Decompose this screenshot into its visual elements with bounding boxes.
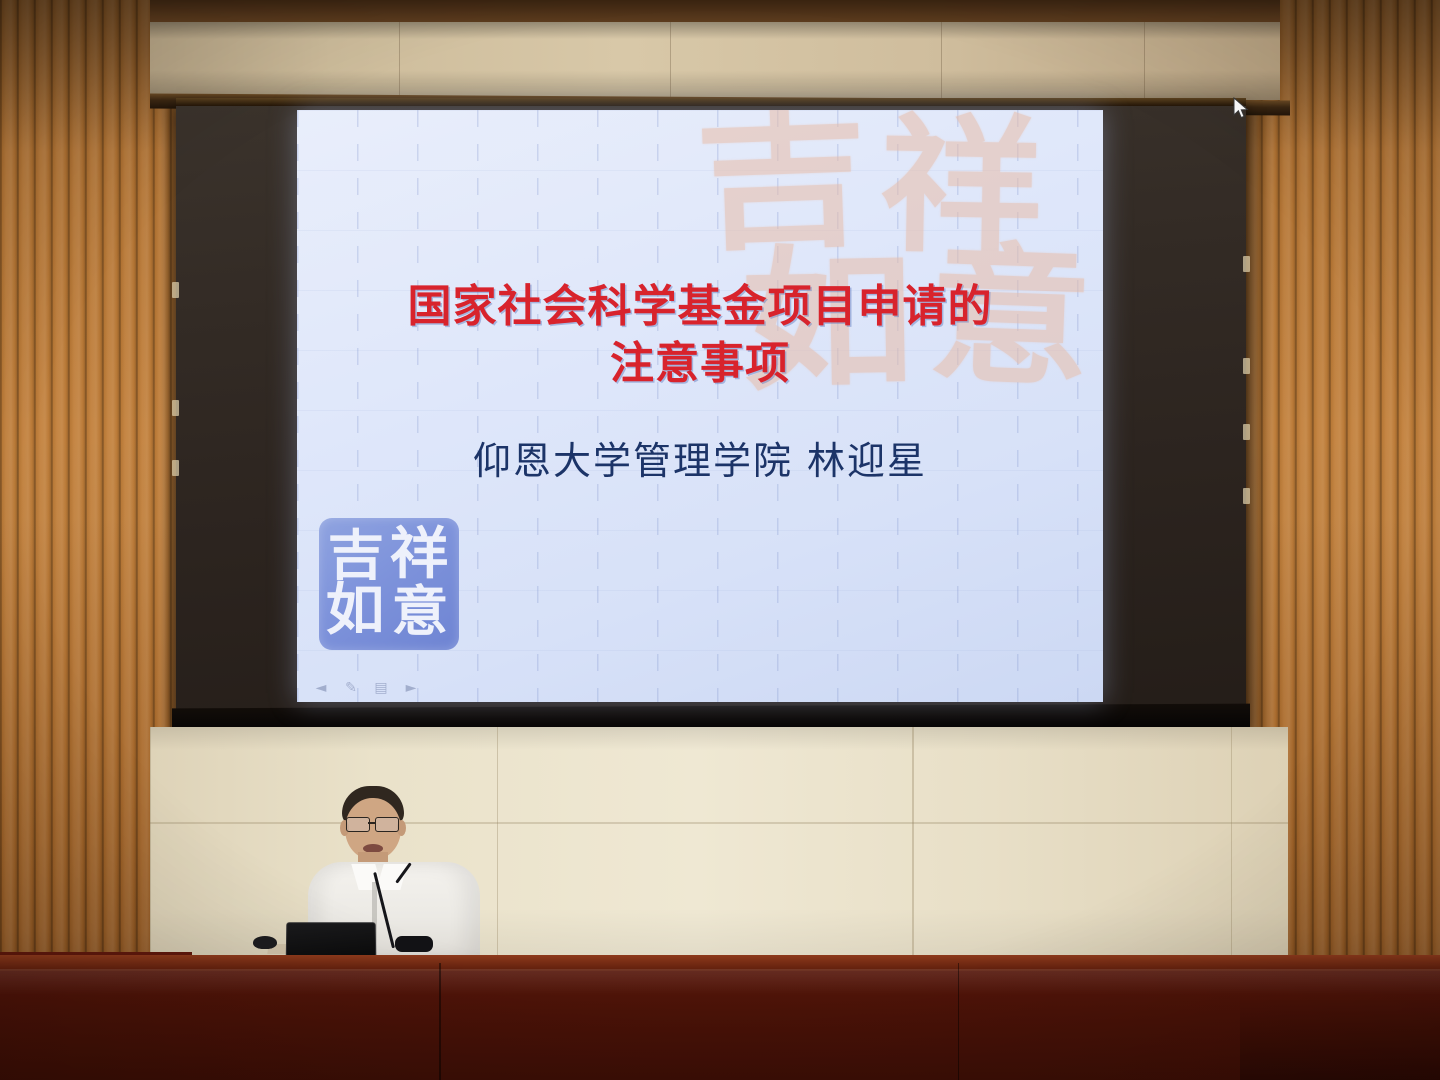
presenter-desk — [0, 955, 1440, 1080]
pen-icon[interactable]: ✎ — [343, 681, 359, 696]
seal-char-3: 如 — [326, 582, 385, 638]
slide-subtitle: 仰恩大学管理学院 林迎星 — [297, 430, 1103, 485]
seal-char-1: 吉 — [328, 528, 385, 582]
next-slide-icon[interactable]: ► — [403, 681, 419, 696]
screen-clip — [1243, 358, 1250, 374]
seal-char-4: 意 — [392, 584, 449, 638]
screen-clip — [1243, 424, 1250, 440]
screen-clip — [172, 460, 179, 476]
microphone-base — [395, 936, 433, 952]
screen-clip — [1243, 256, 1250, 272]
lecture-hall-scene: 吉 祥 如 意 国家社会科学基金项目申请的 注意事项 仰恩大学管理学院 林迎星 … — [0, 0, 1440, 1080]
slide-title-line-1: 国家社会科学基金项目申请的 — [408, 281, 993, 332]
slide-title-line-2: 注意事项 — [297, 335, 1103, 392]
screen-clip — [172, 400, 179, 416]
computer-mouse[interactable] — [253, 936, 277, 949]
desk-gloss — [0, 969, 1440, 995]
eyeglasses-lens — [375, 817, 399, 832]
presentation-toolbar[interactable]: ◄ ✎ ▤ ► — [313, 681, 419, 696]
seal-logo: 吉 祥 如 意 — [319, 518, 459, 650]
slide-title: 国家社会科学基金项目申请的 注意事项 — [297, 278, 1103, 392]
upper-wall-panel — [150, 22, 1280, 100]
menu-icon[interactable]: ▤ — [373, 681, 389, 696]
screen-top-lip — [176, 98, 1246, 106]
desk-right-block — [1240, 1000, 1440, 1080]
screen-clip — [172, 282, 179, 298]
screen-clip — [1243, 488, 1250, 504]
seal-char-2: 祥 — [390, 526, 449, 582]
eyeglasses-lens — [346, 817, 370, 832]
eyeglasses-bridge — [368, 822, 376, 824]
projected-slide[interactable]: 吉 祥 如 意 国家社会科学基金项目申请的 注意事项 仰恩大学管理学院 林迎星 … — [297, 110, 1103, 702]
prev-slide-icon[interactable]: ◄ — [313, 681, 329, 696]
mouse-pointer-icon — [1233, 97, 1251, 121]
